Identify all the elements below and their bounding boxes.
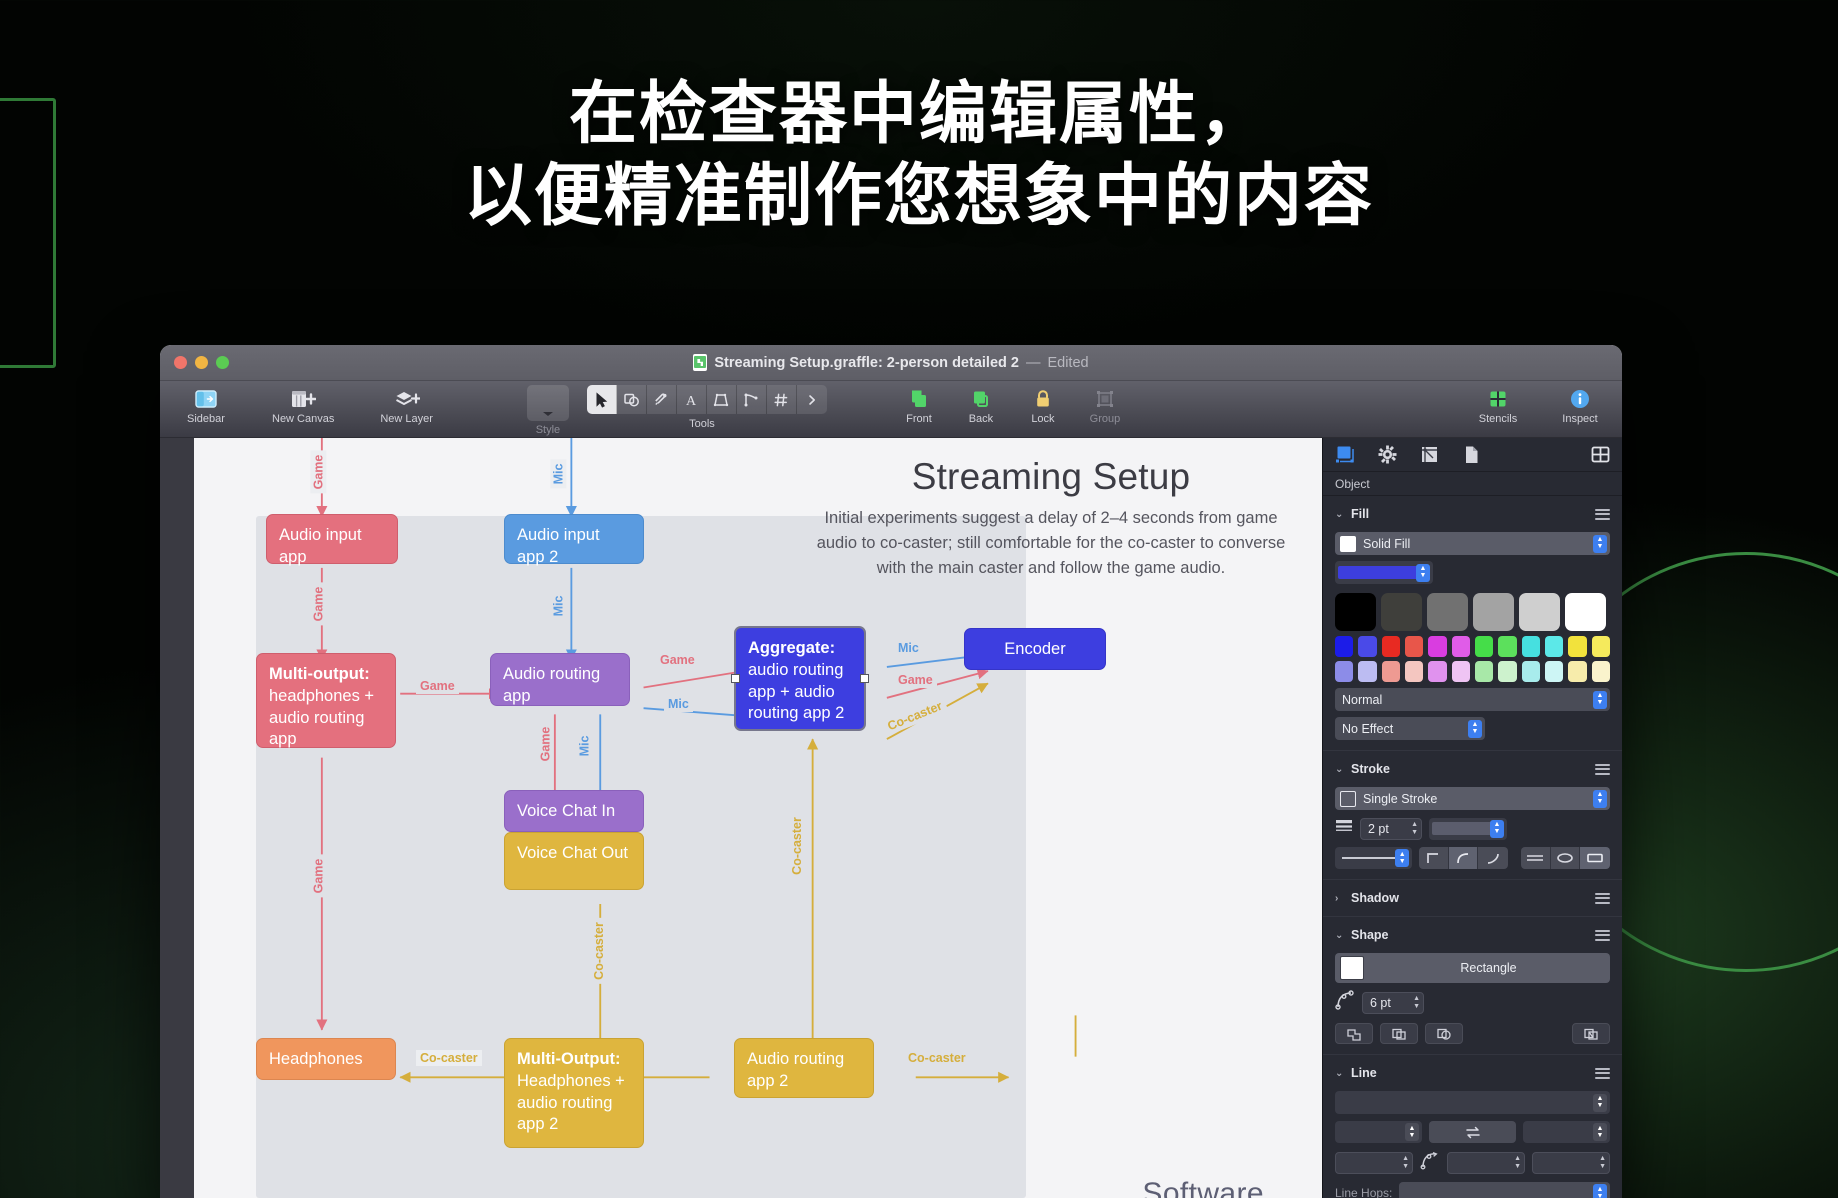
swatch[interactable] [1473, 593, 1514, 631]
toolbar-inspect-button[interactable]: Inspect [1552, 385, 1608, 425]
chevron-down-icon: ⌄ [1335, 1068, 1345, 1079]
tab-settings-inspector[interactable] [1377, 445, 1397, 465]
chevron-updown-icon[interactable]: ▲▼ [1593, 1123, 1607, 1141]
palette-row-grays[interactable] [1335, 593, 1610, 631]
toolbar-new-canvas-button[interactable]: New Canvas [264, 385, 342, 425]
swatch[interactable] [1382, 661, 1400, 682]
stepper-icon[interactable]: ▲▼ [1411, 821, 1418, 836]
inspector-sections[interactable]: ⌄ Fill Solid Fill ▲▼ ▲▼ [1323, 496, 1622, 1198]
node-voice-chat-in[interactable]: Voice Chat In [504, 790, 644, 832]
page-headline: 在检查器中编辑属性， 以便精准制作您想象中的内容 [0, 74, 1838, 237]
canvas-content[interactable]: Game Mic Game Mic Game Game Game Mic Gam… [194, 438, 1322, 1198]
toolbar-tools-label: Tools [689, 418, 715, 430]
subtract-button[interactable] [1380, 1023, 1418, 1044]
section-line: ⌄ Line ▲▼ ▲▼ [1323, 1055, 1622, 1198]
section-stroke: ⌄ Stroke Single Stroke ▲▼ [1323, 751, 1622, 880]
node-audio-routing-app-2[interactable]: Audio routing app 2 [734, 1038, 874, 1098]
swatch[interactable] [1522, 636, 1540, 657]
line-hops-label: Line Hops: [1335, 1186, 1392, 1198]
section-line-title: Line [1351, 1066, 1377, 1080]
corner-radius-icon [1335, 990, 1355, 1015]
window-body: Game Mic Game Mic Game Game Game Mic Gam… [160, 438, 1622, 1198]
edge-label-mic: Mic [576, 732, 592, 761]
toolbar-back-label: Back [969, 413, 993, 425]
section-fill-title: Fill [1351, 507, 1369, 521]
chevron-right-icon: › [1335, 893, 1345, 904]
swatch[interactable] [1475, 661, 1493, 682]
color-palette[interactable] [1335, 593, 1610, 682]
node-label: Voice Chat Out [517, 844, 628, 862]
node-label: Audio input app [279, 526, 362, 566]
blend-mode-value: Normal [1342, 693, 1382, 707]
edge-label-cocaster: Co-caster [789, 813, 805, 879]
node-title: Aggregate: [748, 638, 852, 660]
stencils-icon [1488, 388, 1508, 410]
node-body: audio routing app + audio routing app 2 [748, 661, 844, 723]
line-end-arrow-select[interactable]: ▲▼ [1523, 1121, 1610, 1143]
swatch[interactable] [1475, 636, 1493, 657]
cap-butt-button[interactable] [1521, 847, 1551, 869]
tool-text[interactable]: A [677, 385, 707, 414]
inspector-grid-toggle[interactable] [1590, 445, 1610, 465]
stepper-icon[interactable]: ▲▼ [1514, 1155, 1521, 1170]
edge-label-game: Game [894, 672, 937, 688]
tab-object-inspector[interactable] [1335, 445, 1355, 465]
corner-radius-row: 6 pt ▲▼ [1335, 990, 1610, 1015]
palette-row-1[interactable] [1335, 636, 1610, 657]
line-type-select[interactable]: ▲▼ [1335, 1091, 1610, 1114]
node-headphones[interactable]: Headphones [256, 1038, 396, 1080]
swatch[interactable] [1519, 593, 1560, 631]
swatch[interactable] [1358, 661, 1376, 682]
chevron-updown-icon[interactable]: ▲▼ [1593, 1094, 1607, 1112]
swatch[interactable] [1335, 593, 1376, 631]
main-toolbar: Sidebar New Canvas New Layer Style [160, 381, 1622, 438]
swatch[interactable] [1565, 593, 1606, 631]
toolbar-group-button[interactable]: Group [1077, 385, 1133, 425]
chevron-down-icon: ⌄ [1335, 509, 1345, 520]
toolbar-back-button[interactable]: Back [953, 385, 1009, 425]
toolbar-stencils-label: Stencils [1479, 413, 1518, 425]
corner-miter-button[interactable] [1419, 847, 1449, 869]
toolbar-style-label: Style [536, 424, 560, 436]
stepper-icon[interactable]: ▲▼ [1413, 995, 1420, 1010]
window-title: Streaming Setup.graffle: 2-person detail… [160, 354, 1622, 371]
node-body: headphones + audio routing app [269, 687, 374, 749]
section-fill: ⌄ Fill Solid Fill ▲▼ ▲▼ [1323, 496, 1622, 751]
swap-arrows-icon [1465, 1126, 1481, 1139]
cap-square-button[interactable] [1580, 847, 1610, 869]
spacer [1470, 1023, 1565, 1044]
stroke-color-select[interactable]: ▲▼ [1429, 818, 1507, 840]
new-layer-icon [394, 388, 420, 410]
section-menu-icon[interactable] [1595, 893, 1610, 904]
edge-label-game: Game [537, 723, 553, 766]
canvas-description: Initial experiments suggest a delay of 2… [816, 506, 1286, 580]
chevron-updown-icon[interactable]: ▲▼ [1593, 691, 1607, 709]
toolbar-lock-label: Lock [1031, 413, 1054, 425]
edge-label-game: Game [656, 652, 699, 668]
stroke-weight-icon [1335, 817, 1353, 840]
swatch[interactable] [1592, 661, 1610, 682]
toolbar-sidebar-label: Sidebar [187, 413, 225, 425]
cap-style-segmented[interactable] [1521, 847, 1610, 869]
window-title-text: Streaming Setup.graffle: 2-person detail… [714, 355, 1019, 371]
node-audio-input-app[interactable]: Audio input app [266, 514, 398, 564]
swatch[interactable] [1335, 636, 1353, 657]
effect-value: No Effect [1342, 722, 1393, 736]
node-audio-routing-app[interactable]: Audio routing app [490, 653, 630, 706]
stroke-type-select[interactable]: Single Stroke ▲▼ [1335, 787, 1610, 810]
line-start-size-field[interactable]: ▲▼ [1335, 1152, 1413, 1174]
swatch[interactable] [1358, 636, 1376, 657]
node-label: Encoder [1004, 640, 1065, 658]
inspector-tabs [1323, 438, 1622, 472]
corner-radius-field[interactable]: 6 pt ▲▼ [1362, 992, 1424, 1014]
swatch[interactable] [1498, 661, 1516, 682]
style-well-icon[interactable] [527, 385, 569, 421]
toolbar-style-button[interactable]: Style [519, 385, 577, 436]
node-body: Headphones + audio routing app 2 [517, 1072, 625, 1134]
swatch[interactable] [1545, 661, 1563, 682]
stroke-width-field[interactable]: 2 pt ▲▼ [1360, 818, 1422, 840]
window-controls[interactable] [174, 356, 229, 369]
bring-front-icon [909, 388, 929, 410]
tool-shape-library[interactable] [707, 385, 737, 414]
chevron-updown-icon[interactable]: ▲▼ [1416, 564, 1430, 582]
edge-label-mic: Mic [664, 696, 693, 712]
inspect-info-icon [1570, 388, 1590, 410]
fill-color-select[interactable]: ▲▼ [1335, 561, 1433, 584]
node-voice-chat-out[interactable]: Voice Chat Out [504, 832, 644, 890]
tool-selection[interactable] [587, 385, 617, 414]
edge-label-game: Game [310, 451, 326, 494]
fill-type-value: Solid Fill [1363, 537, 1410, 551]
edge-label-cocaster: Co-caster [904, 1050, 970, 1066]
line-hops-select[interactable]: ▲▼ [1399, 1182, 1610, 1198]
tool-shape[interactable] [617, 385, 647, 414]
node-label: Audio input app 2 [517, 526, 600, 566]
fill-color-swatch[interactable] [1340, 536, 1356, 552]
inspector-panel: Object ⌄ Fill Solid Fill ▲▼ [1322, 438, 1622, 1198]
toolbar-group-label: Group [1090, 413, 1121, 425]
node-multi-output-1[interactable]: Multi-output: headphones + audio routing… [256, 653, 396, 748]
swatch[interactable] [1568, 636, 1586, 657]
stroke-width-row: 2 pt ▲▼ ▲▼ [1335, 817, 1610, 840]
canvas-left-gutter [160, 438, 194, 1198]
shape-preview-swatch [1340, 956, 1364, 980]
section-shadow-header[interactable]: › Shadow [1335, 886, 1610, 910]
canvas-watermark: Software [1142, 1177, 1264, 1198]
new-canvas-icon [290, 388, 316, 410]
line-swap-ends-button[interactable] [1429, 1121, 1516, 1143]
edge-label-mic: Mic [550, 592, 566, 621]
swatch[interactable] [1522, 661, 1540, 682]
toolbar-new-layer-button[interactable]: New Layer [372, 385, 441, 425]
toolbar-new-layer-label: New Layer [380, 413, 433, 425]
node-label: Headphones [269, 1050, 363, 1068]
stepper-icon[interactable]: ▲▼ [1599, 1155, 1606, 1170]
toolbar-front-label: Front [906, 413, 932, 425]
cap-round-button[interactable] [1551, 847, 1581, 869]
stroke-color-swatch[interactable] [1340, 791, 1356, 807]
shape-type-value: Rectangle [1371, 961, 1606, 975]
chevron-updown-icon[interactable]: ▲▼ [1395, 849, 1409, 867]
edge-label-mic: Mic [550, 460, 566, 489]
node-multi-output-2[interactable]: Multi-Output: Headphones + audio routing… [504, 1038, 644, 1148]
toolbar-new-canvas-label: New Canvas [272, 413, 334, 425]
edge-label-cocaster: Co-caster [416, 1050, 482, 1066]
lock-icon [1034, 388, 1052, 410]
node-label: Voice Chat In [517, 802, 615, 820]
node-audio-input-app-2[interactable]: Audio input app 2 [504, 514, 644, 564]
window-titlebar: Streaming Setup.graffle: 2-person detail… [160, 345, 1622, 381]
tab-canvas-inspector[interactable] [1419, 445, 1439, 465]
section-menu-icon[interactable] [1595, 930, 1610, 941]
swatch[interactable] [1592, 636, 1610, 657]
section-stroke-header[interactable]: ⌄ Stroke [1335, 757, 1610, 781]
node-encoder[interactable]: Encoder [964, 628, 1106, 670]
section-shadow-title: Shadow [1351, 891, 1399, 905]
chevron-updown-icon[interactable]: ▲▼ [1593, 790, 1607, 808]
chevron-updown-icon[interactable]: ▲▼ [1490, 820, 1504, 838]
edge-label-cocaster: Co-caster [591, 918, 607, 984]
swatch[interactable] [1427, 593, 1468, 631]
canvas-header: Streaming Setup Initial experiments sugg… [816, 456, 1286, 580]
section-menu-icon[interactable] [1595, 764, 1610, 775]
corner-round-button[interactable] [1449, 847, 1479, 869]
section-fill-header[interactable]: ⌄ Fill [1335, 502, 1610, 526]
selection-handle-right[interactable] [860, 674, 869, 683]
document-canvas[interactable]: Game Mic Game Mic Game Game Game Mic Gam… [160, 438, 1322, 1198]
swatch[interactable] [1335, 661, 1353, 682]
toolbar-inspect-label: Inspect [1562, 413, 1597, 425]
title-dash: — [1026, 355, 1041, 371]
exclude-button[interactable] [1572, 1023, 1610, 1044]
tool-more[interactable] [797, 385, 827, 414]
swatch[interactable] [1452, 661, 1470, 682]
canvas-title: Streaming Setup [816, 456, 1286, 498]
group-icon [1095, 388, 1115, 410]
stroke-style-row: ▲▼ [1335, 847, 1610, 869]
section-menu-icon[interactable] [1595, 1068, 1610, 1079]
swatch[interactable] [1405, 636, 1423, 657]
fill-type-select[interactable]: Solid Fill ▲▼ [1335, 532, 1610, 555]
shape-type-select[interactable]: Rectangle [1335, 953, 1610, 983]
section-shape-header[interactable]: ⌄ Shape [1335, 923, 1610, 947]
chevron-updown-icon[interactable]: ▲▼ [1468, 720, 1482, 738]
tool-bezier[interactable] [737, 385, 767, 414]
node-label: Audio routing app [503, 665, 600, 705]
window-edited-status: Edited [1047, 355, 1088, 371]
line-ends-row: ▲▼ ▲▼ [1335, 1121, 1610, 1143]
dash-style-select[interactable]: ▲▼ [1335, 847, 1412, 869]
node-label: Audio routing app 2 [747, 1050, 844, 1090]
swatch[interactable] [1545, 636, 1563, 657]
edge-label-game: Game [416, 678, 459, 694]
omnigraffle-window: Streaming Setup.graffle: 2-person detail… [160, 345, 1622, 1198]
selection-handle-left[interactable] [731, 674, 740, 683]
chevron-updown-icon[interactable]: ▲▼ [1405, 1123, 1419, 1141]
tool-grid[interactable] [767, 385, 797, 414]
node-aggregate[interactable]: Aggregate: audio routing app + audio rou… [734, 626, 866, 731]
section-shape: ⌄ Shape Rectangle 6 pt [1323, 917, 1622, 1055]
corner-bevel-button[interactable] [1478, 847, 1508, 869]
section-shadow: › Shadow [1323, 880, 1622, 917]
edge-label-mic: Mic [894, 640, 923, 656]
send-back-icon [971, 388, 991, 410]
section-stroke-title: Stroke [1351, 762, 1390, 776]
swatch[interactable] [1428, 661, 1446, 682]
corner-style-segmented[interactable] [1419, 847, 1508, 869]
maximize-button[interactable] [216, 356, 229, 369]
chevron-updown-icon[interactable]: ▲▼ [1593, 1184, 1607, 1198]
union-button[interactable] [1335, 1023, 1373, 1044]
line-curve-field[interactable]: ▲▼ [1447, 1152, 1525, 1174]
boolean-ops-row [1335, 1023, 1610, 1044]
stroke-width-value: 2 pt [1368, 822, 1389, 836]
section-shape-title: Shape [1351, 928, 1389, 942]
line-end-size-field[interactable]: ▲▼ [1532, 1152, 1610, 1174]
swatch[interactable] [1498, 636, 1516, 657]
edge-label-game: Game [310, 855, 326, 898]
swatch[interactable] [1382, 636, 1400, 657]
section-line-header[interactable]: ⌄ Line [1335, 1061, 1610, 1085]
tool-pen[interactable] [647, 385, 677, 414]
svg-text:A: A [686, 394, 697, 408]
swatch[interactable] [1381, 593, 1422, 631]
palette-row-2[interactable] [1335, 661, 1610, 682]
swatch[interactable] [1452, 636, 1470, 657]
chevron-updown-icon[interactable]: ▲▼ [1593, 535, 1607, 553]
toolbar-lock-button[interactable]: Lock [1015, 385, 1071, 425]
line-curve-icon [1420, 1150, 1440, 1175]
close-button[interactable] [174, 356, 187, 369]
inspector-object-label: Object [1323, 472, 1622, 496]
stepper-icon[interactable]: ▲▼ [1402, 1155, 1409, 1170]
node-title: Multi-output: [269, 664, 383, 686]
tab-document-inspector[interactable] [1461, 445, 1481, 465]
toolbar-tools-group: A Tools [577, 385, 827, 430]
section-menu-icon[interactable] [1595, 509, 1610, 520]
chevron-down-icon: ⌄ [1335, 764, 1345, 775]
headline-line-2: 以便精准制作您想象中的内容 [0, 156, 1838, 238]
chevron-down-icon: ⌄ [1335, 930, 1345, 941]
stroke-type-value: Single Stroke [1363, 792, 1437, 806]
edge-label-game: Game [310, 583, 326, 626]
sidebar-icon [195, 388, 217, 410]
intersect-button[interactable] [1425, 1023, 1463, 1044]
document-icon [693, 354, 707, 371]
toolbar-sidebar-button[interactable]: Sidebar [178, 385, 234, 425]
corner-radius-value: 6 pt [1370, 996, 1391, 1010]
minimize-button[interactable] [195, 356, 208, 369]
toolbar-front-button[interactable]: Front [891, 385, 947, 425]
effect-select[interactable]: No Effect ▲▼ [1335, 717, 1485, 740]
swatch[interactable] [1405, 661, 1423, 682]
line-start-arrow-select[interactable]: ▲▼ [1335, 1121, 1422, 1143]
node-title: Multi-Output: [517, 1049, 631, 1071]
toolbar-stencils-button[interactable]: Stencils [1470, 385, 1526, 425]
swatch[interactable] [1428, 636, 1446, 657]
line-geometry-row: ▲▼ ▲▼ ▲▼ [1335, 1150, 1610, 1175]
blend-mode-select[interactable]: Normal ▲▼ [1335, 688, 1610, 711]
swatch[interactable] [1568, 661, 1586, 682]
line-hops-row: Line Hops: ▲▼ [1335, 1182, 1610, 1198]
headline-line-1: 在检查器中编辑属性， [0, 74, 1838, 156]
